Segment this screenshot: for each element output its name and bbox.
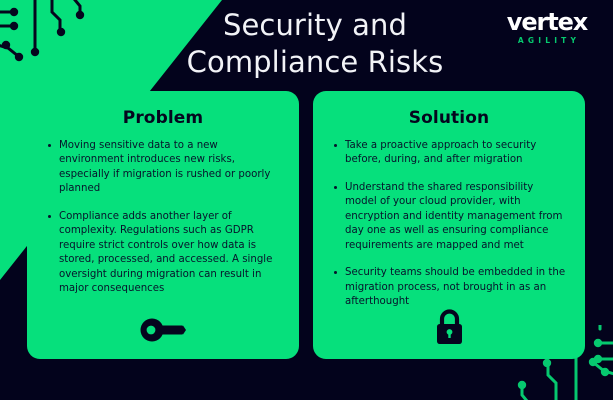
problem-card-icon (27, 315, 299, 345)
logo-tagline: AGILITY (498, 36, 596, 45)
brand-logo: vertex AGILITY (498, 10, 596, 45)
slide-root: Security and Compliance Risks vertex AGI… (0, 0, 613, 400)
key-icon (140, 315, 186, 345)
page-title-line-2: Compliance Risks (150, 44, 480, 81)
lock-icon (434, 307, 465, 345)
list-item: Understand the shared responsibility mod… (331, 181, 567, 253)
list-item: Take a proactive approach to security be… (331, 139, 567, 168)
list-item: Security teams should be embedded in the… (331, 266, 567, 309)
circuit-pattern-icon (0, 0, 100, 80)
problem-bullet-list: Moving sensitive data to a new environme… (45, 139, 281, 297)
solution-card-heading: Solution (331, 108, 567, 128)
problem-card-heading: Problem (45, 108, 281, 128)
page-title: Security and Compliance Risks (150, 7, 480, 81)
problem-card: Problem Moving sensitive data to a new e… (27, 91, 299, 359)
page-title-line-1: Security and (150, 7, 480, 44)
list-item: Moving sensitive data to a new environme… (45, 139, 281, 197)
solution-card-icon (313, 307, 585, 345)
solution-card: Solution Take a proactive approach to se… (313, 91, 585, 359)
solution-bullet-list: Take a proactive approach to security be… (331, 139, 567, 310)
logo-wordmark: vertex (498, 10, 596, 34)
list-item: Compliance adds another layer of complex… (45, 210, 281, 297)
